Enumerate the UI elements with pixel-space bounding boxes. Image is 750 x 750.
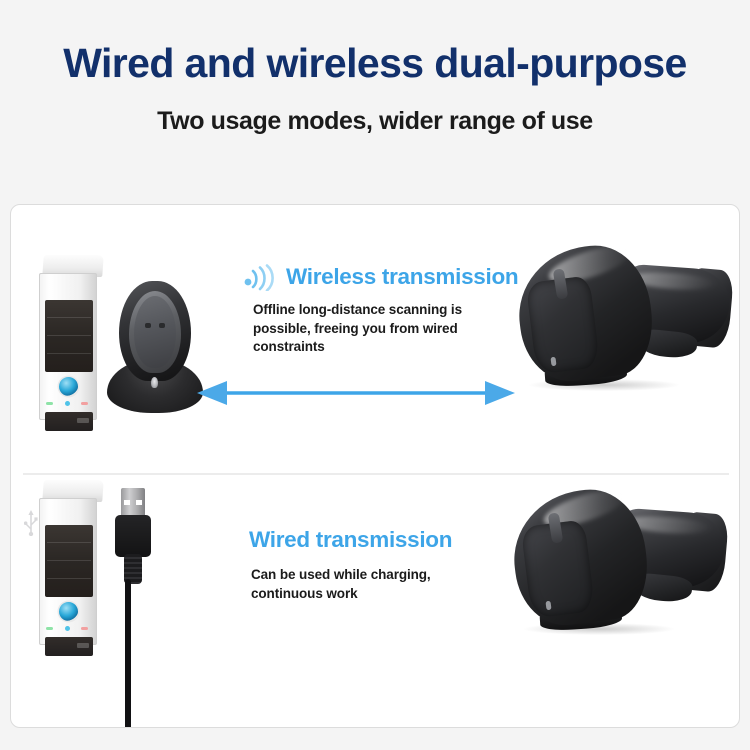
pc-chassis	[39, 498, 97, 645]
wired-text-block: Wired transmission Can be used while cha…	[249, 527, 452, 603]
wireless-body-line-1: Offline long-distance scanning is	[253, 301, 518, 320]
wifi-signal-icon	[243, 263, 277, 291]
wireless-heading: Wireless transmission	[286, 264, 518, 290]
double-headed-arrow	[197, 380, 515, 406]
pc-usb-ports-icon	[77, 418, 89, 423]
wireless-body-text: Offline long-distance scanning is possib…	[253, 301, 518, 357]
wireless-section: Wireless transmission Offline long-dista…	[11, 205, 739, 473]
usb-cable-vertical-segment	[125, 579, 131, 728]
pc-front-ports-panel	[45, 412, 93, 431]
wireless-text-block: Wireless transmission Offline long-dista…	[243, 263, 518, 357]
desktop-pc-tower-wired	[39, 480, 105, 645]
barcode-scanner-wired	[506, 483, 731, 633]
barcode-scanner-wireless	[511, 239, 736, 389]
pc-led-green-icon	[46, 402, 53, 405]
usb-type-a-connector	[113, 488, 153, 584]
page-subtitle: Two usage modes, wider range of use	[0, 85, 750, 136]
pc-led-blue-icon	[65, 401, 70, 406]
pc-usb-ports-icon	[77, 643, 89, 648]
wired-section: Wired transmission Can be used while cha…	[11, 475, 739, 727]
content-card: Wireless transmission Offline long-dista…	[10, 204, 740, 728]
pc-led-red-icon	[81, 627, 88, 630]
pc-drive-bays	[45, 525, 93, 597]
usb-metal-shroud	[121, 488, 145, 518]
cradle-well	[134, 296, 176, 368]
wireless-body-line-3: constraints	[253, 338, 518, 357]
wired-body-line-1: Can be used while charging,	[251, 566, 452, 585]
pc-power-button-icon[interactable]	[59, 377, 78, 396]
cradle-charging-contacts-icon	[145, 323, 165, 328]
wired-heading: Wired transmission	[249, 527, 452, 553]
charging-cradle	[107, 281, 203, 413]
scanner-status-led-icon	[545, 601, 551, 611]
pc-led-red-icon	[81, 402, 88, 405]
wired-body-line-2: continuous work	[251, 585, 452, 604]
scanner-status-led-icon	[550, 357, 556, 367]
pc-led-green-icon	[46, 627, 53, 630]
usb-housing	[115, 515, 151, 557]
desktop-pc-tower-wireless	[39, 255, 105, 420]
cradle-status-led-icon	[151, 377, 158, 388]
pc-power-button-icon[interactable]	[59, 602, 78, 621]
wired-body-text: Can be used while charging, continuous w…	[251, 566, 452, 603]
pc-chassis	[39, 273, 97, 420]
usb-trident-icon	[24, 510, 38, 536]
pc-front-ports-panel	[45, 637, 93, 656]
header: Wired and wireless dual-purpose Two usag…	[0, 0, 750, 190]
wireless-body-line-2: possible, freeing you from wired	[253, 320, 518, 339]
pc-drive-bays	[45, 300, 93, 372]
pc-led-blue-icon	[65, 626, 70, 631]
page-title: Wired and wireless dual-purpose	[0, 0, 750, 85]
